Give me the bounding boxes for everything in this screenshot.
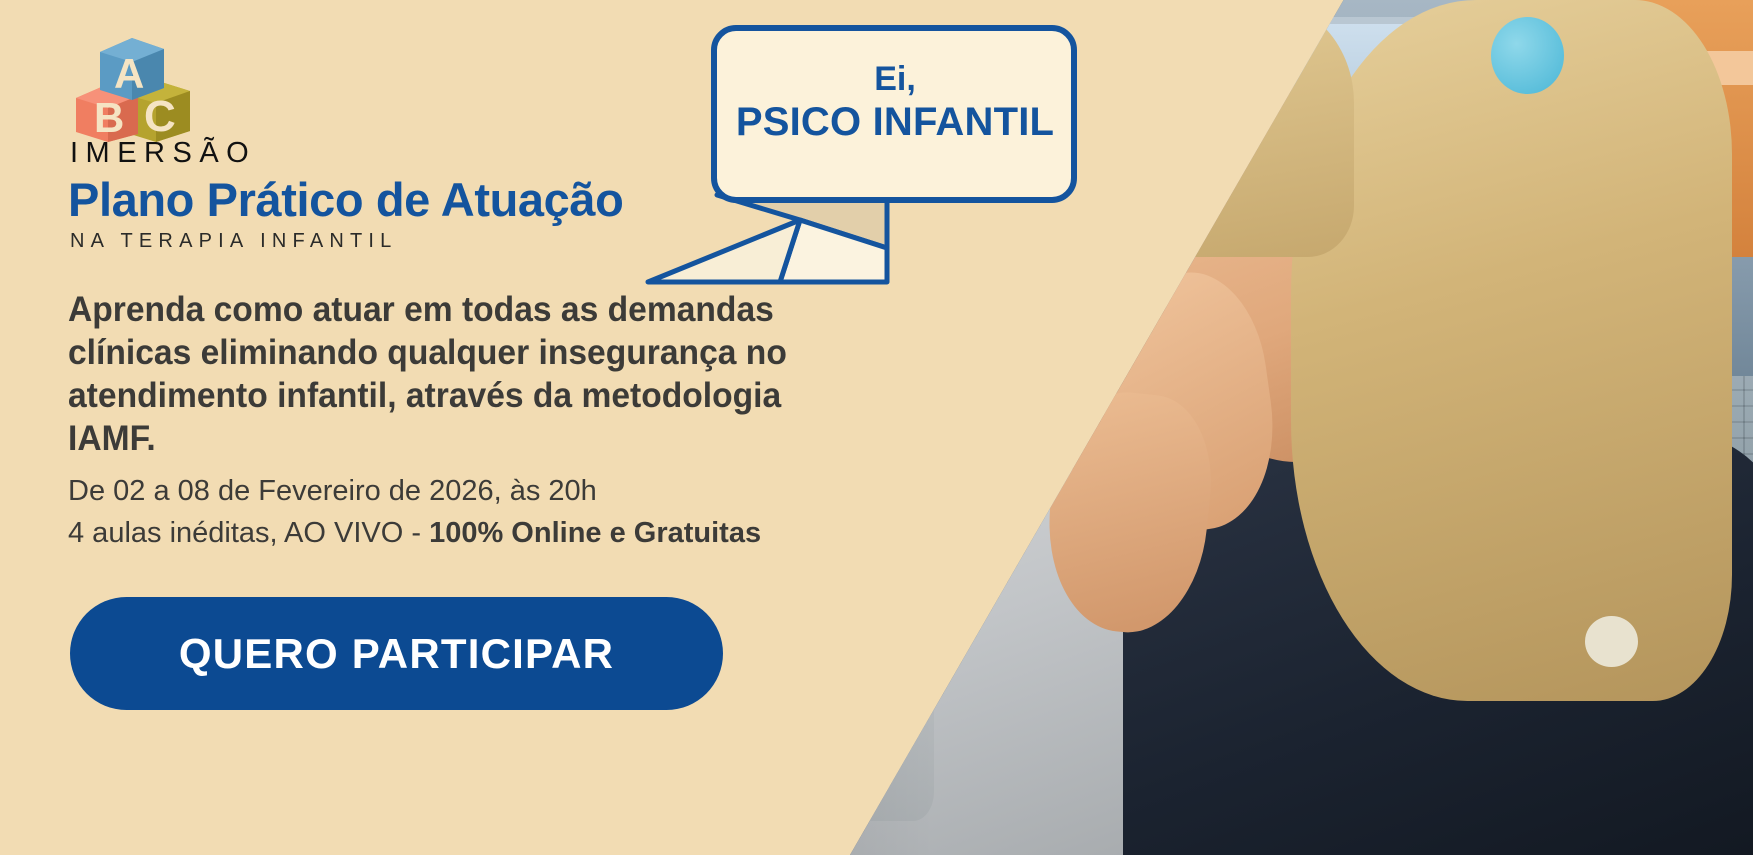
headline-text: Aprenda como atuar em todas as demandas … (68, 288, 798, 460)
brand-subtitle: NA TERAPIA INFANTIL (70, 230, 398, 253)
abc-blocks-logo: C B A (72, 30, 192, 142)
event-info: De 02 a 08 de Fevereiro de 2026, às 20h … (68, 470, 928, 554)
speech-bubble: Ei, PSICO INFANTIL (632, 20, 1082, 310)
event-classes-highlight: 100% Online e Gratuitas (429, 517, 761, 549)
event-date-line: De 02 a 08 de Fevereiro de 2026, às 20h (68, 470, 928, 512)
svg-text:A: A (114, 50, 144, 97)
page-title: Plano Prático de Atuação (68, 172, 623, 227)
svg-text:C: C (144, 92, 176, 141)
bubble-body (714, 28, 1074, 200)
block-a-icon: A (100, 38, 164, 100)
svg-text:B: B (94, 94, 124, 141)
event-classes-prefix: 4 aulas inéditas, AO VIVO - (68, 517, 429, 549)
brand-eyebrow: IMERSÃO (70, 137, 256, 170)
promo-banner: C B A IMERSÃO Plano Prático d (0, 0, 1753, 855)
event-classes-line: 4 aulas inéditas, AO VIVO - 100% Online … (68, 512, 928, 554)
bubble-tail-fold-c (648, 220, 800, 282)
quero-participar-button[interactable]: QUERO PARTICIPAR (70, 597, 723, 710)
